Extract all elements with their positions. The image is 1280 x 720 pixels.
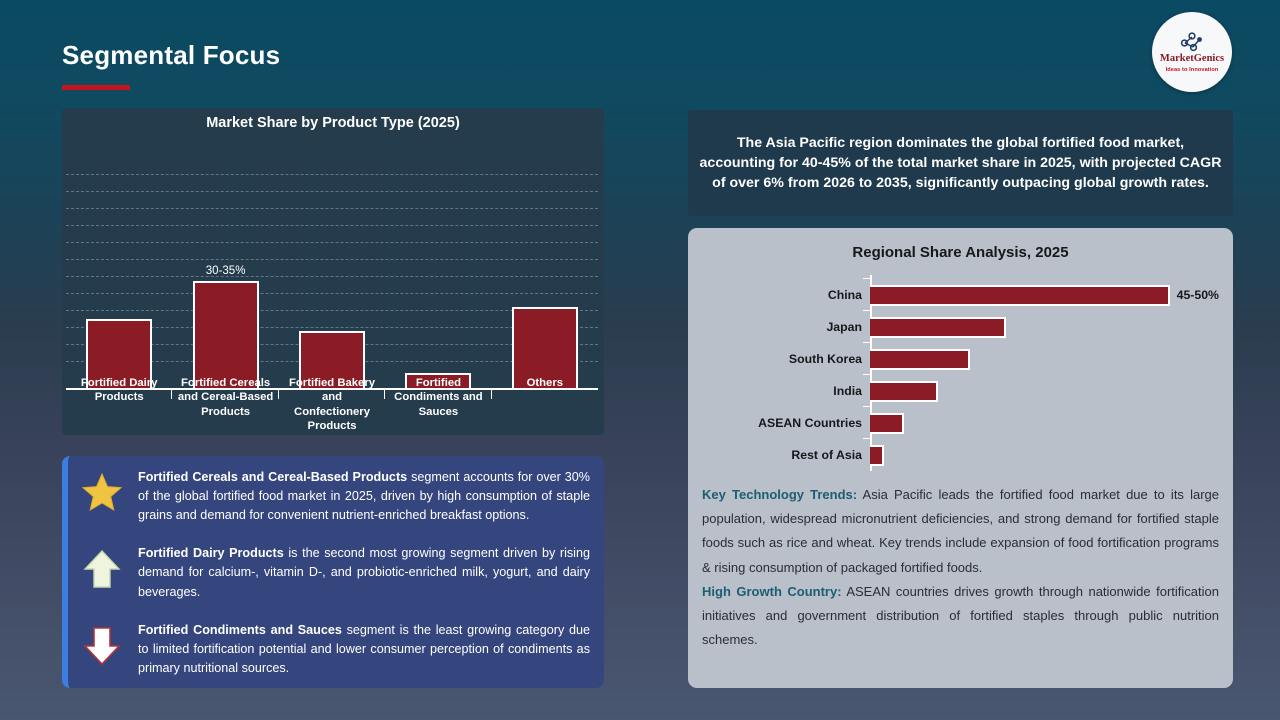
- regional-bar: [870, 285, 1170, 306]
- segment-insights-panel: Fortified Cereals and Cereal-Based Produ…: [62, 456, 604, 688]
- regional-bar-row: ASEAN Countries: [870, 407, 1219, 439]
- product-chart-title: Market Share by Product Type (2025): [62, 108, 604, 131]
- product-chart-plot-area: 30-35% Fortified Dairy ProductsFortified…: [64, 148, 602, 433]
- regional-chart-title: Regional Share Analysis, 2025: [702, 244, 1219, 261]
- regional-bar-label: China: [828, 279, 862, 311]
- regional-bar-row: India: [870, 375, 1219, 407]
- company-logo: MarketGenics Ideas to Innovation: [1152, 12, 1232, 92]
- chart-bars: 30-35%: [66, 148, 598, 390]
- regional-bar-row: South Korea: [870, 343, 1219, 375]
- regional-bar: [870, 349, 970, 370]
- bar-value-label: 30-35%: [206, 265, 246, 277]
- regional-bar: [870, 445, 884, 466]
- chart-category-label: Fortified Condiments and Sauces: [385, 376, 491, 434]
- down-arrow-icon: [76, 621, 128, 667]
- regional-bar-chart: China45-50%JapanSouth KoreaIndiaASEAN Co…: [702, 279, 1219, 467]
- chart-category-label: Fortified Dairy Products: [66, 376, 172, 434]
- regional-paragraph: Key Technology Trends: Asia Pacific lead…: [702, 483, 1219, 580]
- chart-category-label: Fortified Bakery and Confectionery Produ…: [279, 376, 385, 434]
- star-icon: [76, 468, 128, 512]
- regional-bar-label: India: [833, 375, 862, 407]
- callout-text: The Asia Pacific region dominates the gl…: [698, 133, 1223, 193]
- insight-text: Fortified Condiments and Sauces segment …: [138, 621, 590, 678]
- insight-item: Fortified Dairy Products is the second m…: [76, 544, 590, 601]
- regional-bar-row: China45-50%: [870, 279, 1219, 311]
- product-type-chart-panel: Market Share by Product Type (2025) 30-3…: [62, 108, 604, 435]
- page-title: Segmental Focus: [62, 40, 280, 71]
- chart-bar-slot: [279, 148, 385, 390]
- paragraph-lead: High Growth Country:: [702, 584, 842, 599]
- regional-bar: [870, 317, 1006, 338]
- chart-bar: [193, 281, 259, 390]
- insight-lead: Fortified Condiments and Sauces: [138, 623, 342, 637]
- chart-bar-slot: [492, 148, 598, 390]
- insight-text: Fortified Dairy Products is the second m…: [138, 544, 590, 601]
- regional-bar-label: Rest of Asia: [791, 439, 862, 471]
- chart-category-labels: Fortified Dairy ProductsFortified Cereal…: [66, 376, 598, 434]
- chart-bar-slot: [66, 148, 172, 390]
- network-nodes-icon: [1179, 31, 1205, 53]
- chart-bar-slot: [385, 148, 491, 390]
- insight-item: Fortified Cereals and Cereal-Based Produ…: [76, 468, 590, 525]
- regional-bar-label: South Korea: [789, 343, 862, 375]
- regional-bar-label: ASEAN Countries: [758, 407, 862, 439]
- regional-bar-label: Japan: [826, 311, 862, 343]
- logo-tagline: Ideas to Innovation: [1166, 67, 1219, 73]
- regional-bar-row: Rest of Asia: [870, 439, 1219, 471]
- up-arrow-icon: [76, 544, 128, 590]
- regional-callout-box: The Asia Pacific region dominates the gl…: [688, 110, 1233, 216]
- regional-bar: [870, 413, 904, 434]
- insight-lead: Fortified Cereals and Cereal-Based Produ…: [138, 470, 407, 484]
- regional-paragraph: High Growth Country: ASEAN countries dri…: [702, 580, 1219, 653]
- regional-analysis-text: Key Technology Trends: Asia Pacific lead…: [702, 483, 1219, 652]
- title-underline-rule: [62, 85, 130, 90]
- regional-bar: [870, 381, 938, 402]
- regional-bar-value: 45-50%: [1177, 288, 1219, 302]
- paragraph-lead: Key Technology Trends:: [702, 487, 857, 502]
- chart-category-label: Fortified Cereals and Cereal-Based Produ…: [172, 376, 278, 434]
- insight-text: Fortified Cereals and Cereal-Based Produ…: [138, 468, 590, 525]
- insight-lead: Fortified Dairy Products: [138, 546, 284, 560]
- insight-item: Fortified Condiments and Sauces segment …: [76, 621, 590, 678]
- chart-category-label: Others: [492, 376, 598, 434]
- logo-company-name: MarketGenics: [1160, 54, 1224, 65]
- chart-bar-slot: 30-35%: [172, 148, 278, 390]
- regional-bar-row: Japan: [870, 311, 1219, 343]
- regional-share-panel: Regional Share Analysis, 2025 China45-50…: [688, 228, 1233, 688]
